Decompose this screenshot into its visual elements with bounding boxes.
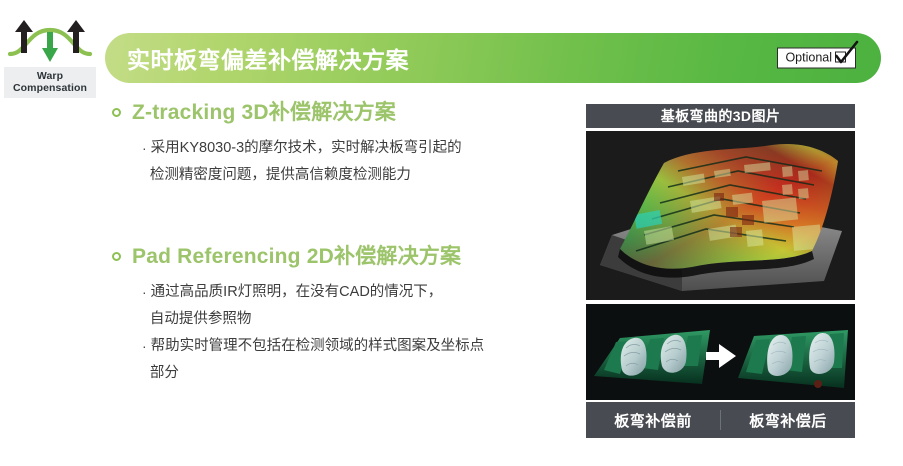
bullet-item: 检测精密度问题，提供高信赖度检测能力 (142, 162, 572, 188)
bullet-text: 部分 (150, 360, 179, 386)
bullet-text: 检测精密度问题，提供高信赖度检测能力 (150, 162, 411, 188)
bullet-dot-spacer (142, 360, 146, 386)
bullet-dot-spacer (142, 306, 146, 332)
media-column: 基板弯曲的3D图片 (586, 104, 855, 438)
optional-badge[interactable]: Optional (777, 48, 856, 69)
section-heading: Z-tracking 3D补偿解决方案 (112, 96, 572, 126)
warp-label-line1: Warp (37, 70, 63, 82)
warp-label-line2: Compensation (13, 82, 87, 94)
bullet-text: 通过高品质IR灯照明，在没有CAD的情况下， (151, 279, 443, 305)
warp-compensation-label: Warp Compensation (4, 67, 96, 98)
bullet-text: 帮助实时管理不包括在检测领域的样式图案及坐标点 (151, 333, 485, 359)
bullet-item: · 帮助实时管理不包括在检测领域的样式图案及坐标点 (142, 333, 572, 359)
bullet-dot-icon: · (142, 333, 147, 359)
bullet-dot-icon: · (142, 135, 147, 161)
title-banner: 实时板弯偏差补偿解决方案 Optional (105, 33, 881, 83)
section-pad-referencing: Pad Referencing 2D补偿解决方案 · 通过高品质IR灯照明，在没… (112, 240, 572, 386)
section-heading: Pad Referencing 2D补偿解决方案 (112, 240, 572, 270)
footer-caption-after: 板弯补偿后 (721, 410, 855, 431)
bullet-text: 采用KY8030-3的摩尔技术，实时解决板弯引起的 (151, 135, 462, 161)
warped-pcb-3d-image (586, 131, 855, 300)
bullet-item: 部分 (142, 360, 572, 386)
media-top-caption: 基板弯曲的3D图片 (661, 106, 781, 126)
media-footer-bar: 板弯补偿前 板弯补偿后 (586, 402, 855, 438)
content-column: Z-tracking 3D补偿解决方案 · 采用KY8030-3的摩尔技术，实时… (112, 96, 572, 390)
section-bullets: · 采用KY8030-3的摩尔技术，实时解决板弯引起的 检测精密度问题，提供高信… (142, 135, 572, 188)
section-title: Pad Referencing 2D补偿解决方案 (132, 240, 461, 270)
warp-compensation-icon (4, 14, 96, 66)
solder-paste-compare-graphic (586, 304, 855, 400)
checkmark-icon (834, 41, 860, 67)
warped-pcb-3d-graphic (586, 131, 855, 300)
slide-root: Warp Compensation 实时板弯偏差补偿解决方案 Optional … (0, 0, 903, 466)
footer-caption-before: 板弯补偿前 (586, 410, 720, 431)
section-z-tracking: Z-tracking 3D补偿解决方案 · 采用KY8030-3的摩尔技术，实时… (112, 96, 572, 188)
solder-paste-compare-image (586, 304, 855, 400)
page-title: 实时板弯偏差补偿解决方案 (127, 41, 409, 75)
media-top-caption-bar: 基板弯曲的3D图片 (586, 104, 855, 128)
section-title: Z-tracking 3D补偿解决方案 (132, 96, 396, 126)
bullet-item: 自动提供参照物 (142, 306, 572, 332)
ring-bullet-icon (112, 108, 121, 117)
bullet-item: · 采用KY8030-3的摩尔技术，实时解决板弯引起的 (142, 135, 572, 161)
bullet-dot-spacer (142, 162, 146, 188)
ring-bullet-icon (112, 252, 121, 261)
bullet-item: · 通过高品质IR灯照明，在没有CAD的情况下， (142, 279, 572, 305)
bullet-dot-icon: · (142, 279, 147, 305)
section-bullets: · 通过高品质IR灯照明，在没有CAD的情况下， 自动提供参照物 · 帮助实时管… (142, 279, 572, 386)
optional-label: Optional (785, 51, 832, 65)
warp-compensation-badge: Warp Compensation (4, 14, 96, 98)
checkbox-checked-icon[interactable] (835, 51, 849, 65)
bullet-text: 自动提供参照物 (150, 306, 252, 332)
